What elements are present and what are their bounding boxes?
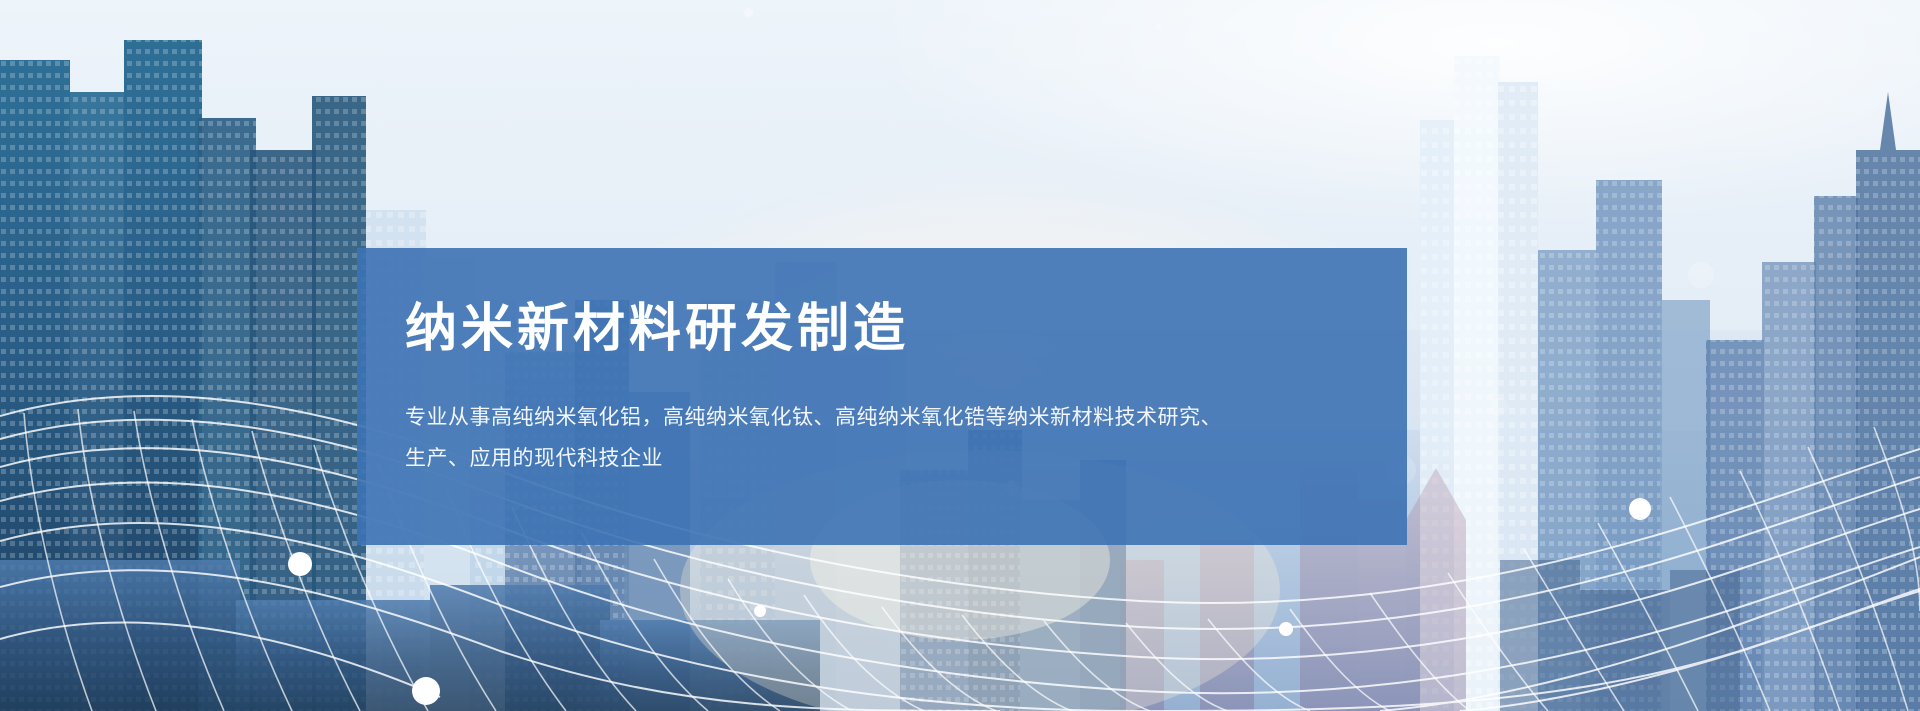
hero-subtitle: 专业从事高纯纳米氧化铝，高纯纳米氧化钛、高纯纳米氧化锆等纳米新材料技术研究、 生…	[405, 398, 1359, 480]
hero-subtitle-line-2: 生产、应用的现代科技企业	[405, 439, 1359, 480]
hero-subtitle-line-1: 专业从事高纯纳米氧化铝，高纯纳米氧化钛、高纯纳米氧化锆等纳米新材料技术研究、	[405, 398, 1359, 439]
hero-banner: 纳米新材料研发制造 专业从事高纯纳米氧化铝，高纯纳米氧化钛、高纯纳米氧化锆等纳米…	[0, 0, 1920, 711]
hero-text-panel: 纳米新材料研发制造 专业从事高纯纳米氧化铝，高纯纳米氧化钛、高纯纳米氧化锆等纳米…	[357, 248, 1407, 545]
page-title: 纳米新材料研发制造	[405, 300, 1359, 360]
